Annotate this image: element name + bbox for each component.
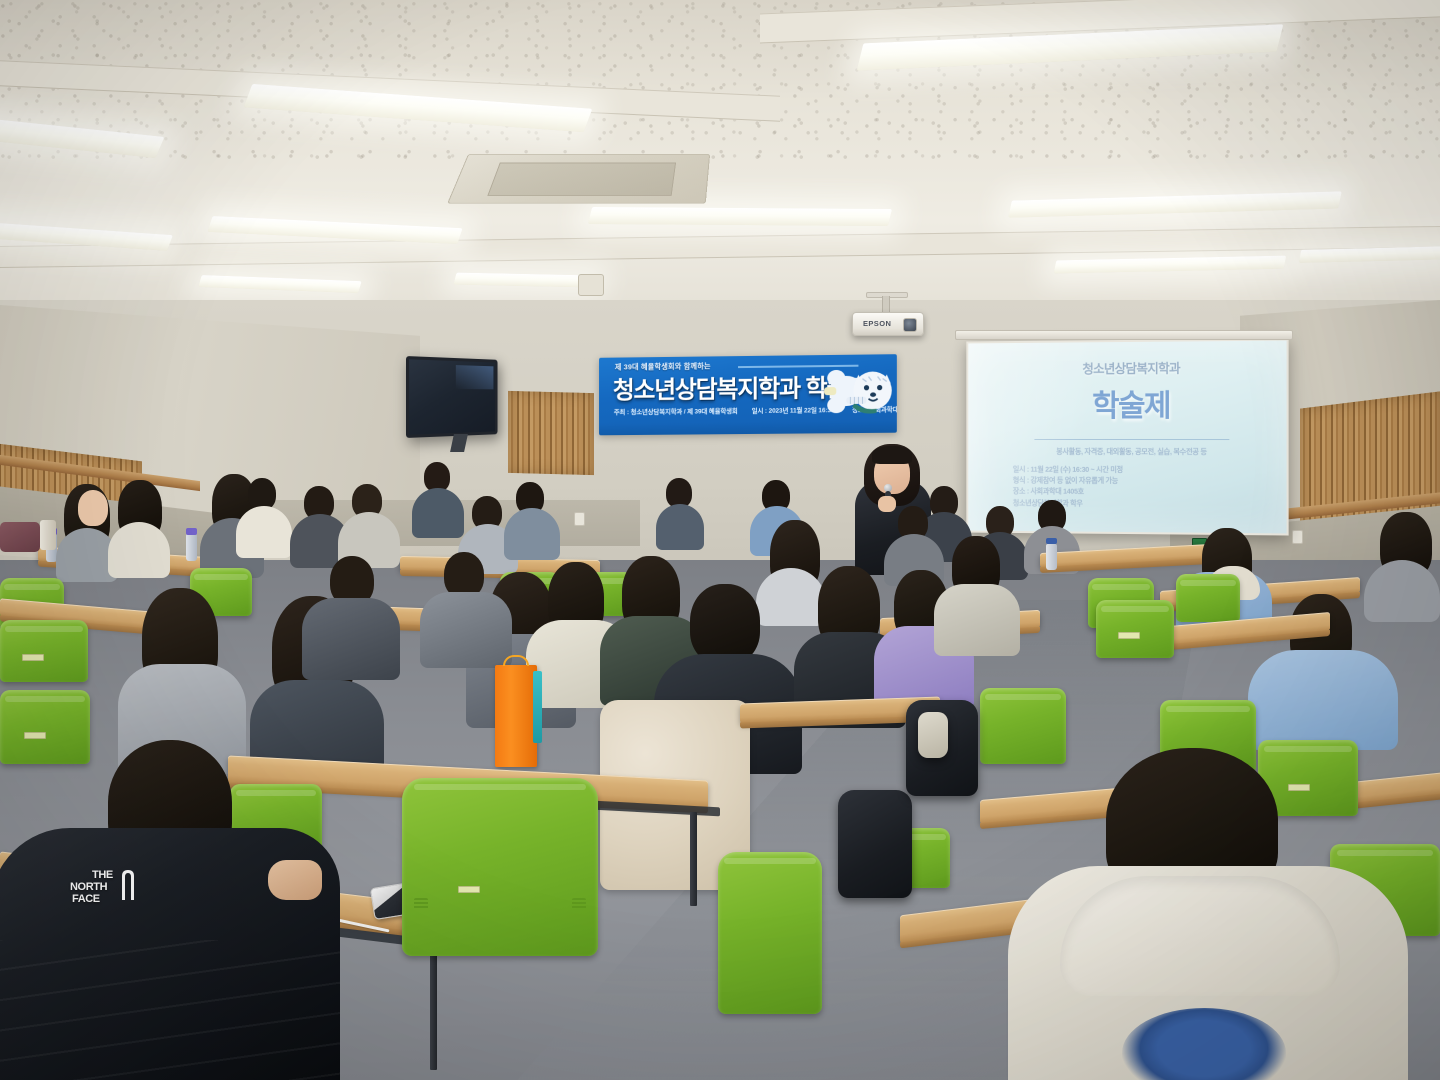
student-body <box>504 508 560 560</box>
svg-text:NORTH: NORTH <box>70 881 108 893</box>
projector-lens <box>903 318 917 332</box>
ceiling-light <box>454 273 597 288</box>
attendee-body <box>412 488 464 538</box>
desk-leg <box>430 946 437 1070</box>
student-head <box>78 490 108 526</box>
wall-power-outlet[interactable] <box>1292 530 1303 544</box>
chair-label-tag <box>22 654 44 661</box>
projector-brand-label: EPSON <box>863 319 891 328</box>
chair[interactable] <box>718 852 822 1014</box>
thermos-bottle <box>40 520 56 550</box>
ceiling-speaker <box>578 274 604 296</box>
bottle-cap <box>186 528 197 535</box>
north-face-logo-icon: THE NORTH FACE <box>66 864 142 908</box>
chair-label-tag <box>24 732 46 739</box>
chair[interactable] <box>402 778 598 956</box>
backpack <box>838 790 912 898</box>
banner-host-text: 주최 : 청소년상담복지학과 / 제 39대 혜율학생회 <box>614 408 738 416</box>
chair[interactable] <box>0 620 88 682</box>
desk-leg <box>690 812 697 906</box>
student-body <box>236 506 292 558</box>
hoodie-hood <box>1060 876 1340 996</box>
svg-text:FACE: FACE <box>72 893 100 905</box>
tv-screen-glare <box>456 365 494 390</box>
attendee-body <box>656 504 704 550</box>
water-bottle <box>1046 544 1057 570</box>
ceiling-light <box>1299 246 1440 263</box>
ceiling-light <box>198 275 361 293</box>
chair-vent <box>414 898 428 910</box>
chair-label-tag <box>458 886 480 893</box>
gift-bag-handle <box>503 655 529 666</box>
handbag <box>0 522 40 552</box>
student-body <box>108 522 170 578</box>
ac-diffuser <box>447 154 710 204</box>
backpack-light-panel <box>918 712 948 758</box>
wood-slat-paneling-center <box>508 391 594 475</box>
student-head <box>690 584 760 664</box>
ceiling-light <box>588 207 892 226</box>
student-body <box>302 598 400 680</box>
event-banner: 제 39대 혜율학생회와 함께하는 청소년상담복지학과 학술제 주최 : 청소년… <box>599 354 897 435</box>
student-body <box>420 592 512 668</box>
chair-vent <box>572 898 586 910</box>
chair[interactable] <box>0 690 90 764</box>
ceiling <box>0 0 1440 340</box>
wall-mounted-tv[interactable] <box>406 356 498 438</box>
ceiling-projector: EPSON <box>852 312 924 336</box>
jacket-quilting <box>0 940 340 1080</box>
student-body <box>934 584 1020 656</box>
projection-screen: 청소년상담복지학과 학술제 봉사활동, 자격증, 대외활동, 공모전, 실습, … <box>966 338 1288 535</box>
foreground-person-hand <box>268 860 322 900</box>
orange-gift-bag <box>495 665 537 767</box>
lecture-hall-photo: 제 39대 혜율학생회와 함께하는 청소년상담복지학과 학술제 주최 : 청소년… <box>0 0 1440 1080</box>
chair-label-tag <box>1288 784 1310 791</box>
bottle-cap <box>1046 538 1057 544</box>
chair-label-tag <box>1118 632 1140 639</box>
wall-power-outlet[interactable] <box>574 512 585 526</box>
ceiling-light <box>207 216 462 244</box>
chair[interactable] <box>980 688 1066 764</box>
projection-screen-case <box>955 330 1293 340</box>
water-bottle <box>186 534 197 561</box>
chair[interactable] <box>1176 574 1240 622</box>
ceiling-light <box>1054 256 1287 274</box>
gift-bag-teal-insert <box>533 671 542 743</box>
ceiling-light <box>1008 191 1342 217</box>
svg-text:THE: THE <box>92 869 113 881</box>
tiger-mascot-icon <box>824 360 895 429</box>
student-body <box>1248 650 1398 750</box>
presenter-hand <box>878 496 896 512</box>
presenter-hair-front <box>872 446 912 464</box>
chair[interactable] <box>1096 600 1174 658</box>
